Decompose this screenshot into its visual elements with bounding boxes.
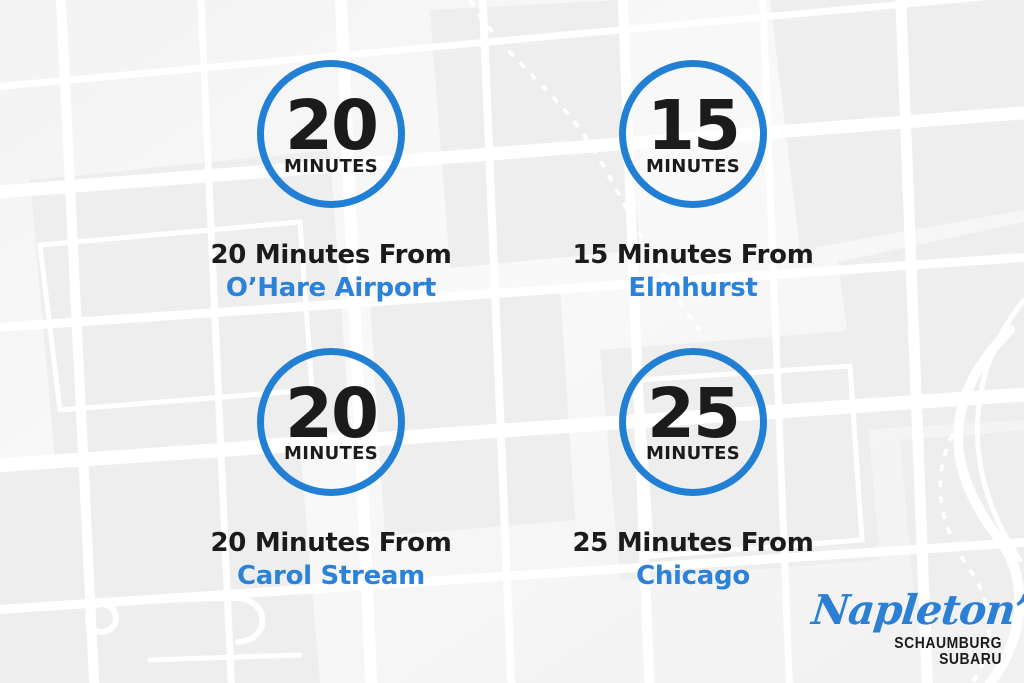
- caption-location: Chicago: [572, 560, 813, 593]
- minutes-badge-carol-stream: 20 MINUTES: [257, 348, 405, 496]
- drive-time-grid: 20 MINUTES 20 Minutes From O’Hare Airpor…: [0, 0, 1024, 683]
- stat-card-ohare-airport: 20 MINUTES 20 Minutes From O’Hare Airpor…: [150, 60, 512, 348]
- caption-location: Elmhurst: [572, 272, 813, 305]
- logo-subtitle: SCHAUMBURG SUBARU: [831, 636, 1002, 667]
- caption-primary: 25 Minutes From: [572, 527, 813, 560]
- badge-unit-label: MINUTES: [284, 158, 378, 176]
- caption-location: Carol Stream: [210, 560, 451, 593]
- logo-wordmark: Napleton’s: [810, 590, 1004, 631]
- stat-caption-chicago: 25 Minutes From Chicago: [572, 527, 813, 594]
- badge-number: 20: [285, 98, 377, 155]
- badge-unit-label: MINUTES: [284, 445, 378, 463]
- badge-number: 25: [647, 386, 739, 443]
- badge-unit-label: MINUTES: [646, 445, 740, 463]
- caption-primary: 15 Minutes From: [572, 239, 813, 272]
- stat-card-elmhurst: 15 MINUTES 15 Minutes From Elmhurst: [512, 60, 874, 348]
- dealership-logo: Napleton’s SCHAUMBURG SUBARU: [812, 590, 1002, 667]
- caption-primary: 20 Minutes From: [210, 239, 451, 272]
- badge-unit-label: MINUTES: [646, 158, 740, 176]
- badge-number: 15: [647, 98, 739, 155]
- stat-caption-elmhurst: 15 Minutes From Elmhurst: [572, 239, 813, 306]
- promo-canvas: 20 MINUTES 20 Minutes From O’Hare Airpor…: [0, 0, 1024, 683]
- stat-caption-ohare-airport: 20 Minutes From O’Hare Airport: [210, 239, 451, 306]
- stat-card-carol-stream: 20 MINUTES 20 Minutes From Carol Stream: [150, 348, 512, 636]
- minutes-badge-ohare-airport: 20 MINUTES: [257, 60, 405, 208]
- badge-number: 20: [285, 386, 377, 443]
- minutes-badge-elmhurst: 15 MINUTES: [619, 60, 767, 208]
- minutes-badge-chicago: 25 MINUTES: [619, 348, 767, 496]
- caption-location: O’Hare Airport: [210, 272, 451, 305]
- caption-primary: 20 Minutes From: [210, 527, 451, 560]
- stat-caption-carol-stream: 20 Minutes From Carol Stream: [210, 527, 451, 594]
